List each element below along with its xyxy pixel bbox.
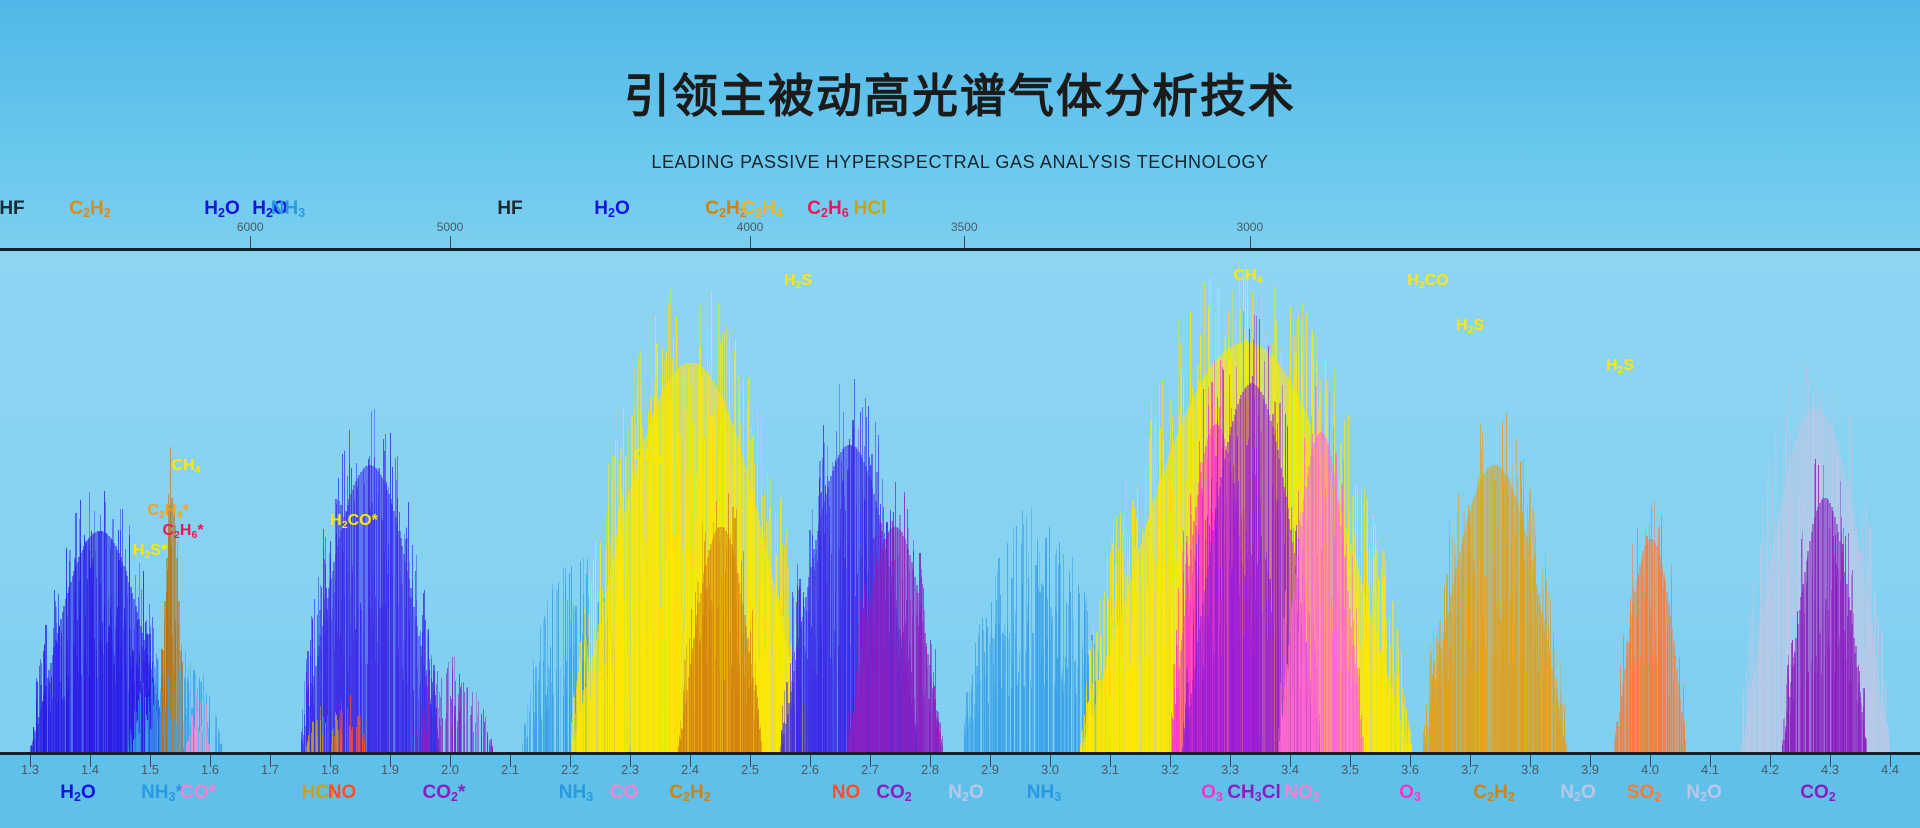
inline-gas-label-H2Sstar: H2S*	[133, 542, 167, 560]
bottom-tick-label: 2.0	[441, 762, 459, 777]
bottom-tick-label: 2.4	[681, 762, 699, 777]
inline-gas-label-C2H6star: C2H6*	[162, 522, 203, 540]
inline-gas-label-H2CO: H2CO	[1407, 272, 1448, 290]
bottom-tick-label: 3.5	[1341, 762, 1359, 777]
gas-label-CO2: CO2	[1800, 782, 1835, 804]
gas-label-CO2star: CO2*	[423, 782, 466, 804]
bottom-tick-label: 2.2	[561, 762, 579, 777]
gas-label-NO2: NO2	[1284, 782, 1319, 804]
bottom-tick-label: 4.2	[1761, 762, 1779, 777]
inline-gas-label-CH4: CH4	[1234, 267, 1263, 285]
bottom-tick-label: 1.3	[21, 762, 39, 777]
top-tick	[450, 236, 451, 248]
gas-label-SO2: SO2	[1627, 782, 1661, 804]
top-axis-line	[0, 248, 1920, 251]
top-tick-label: 4000	[737, 220, 764, 234]
bottom-tick-label: 2.3	[621, 762, 639, 777]
gas-label-C2H2: C2H2	[1473, 782, 1514, 804]
page-subtitle: LEADING PASSIVE HYPERSPECTRAL GAS ANALYS…	[0, 152, 1920, 173]
gas-label-N2O: N2O	[948, 782, 984, 804]
inline-gas-label-H2S: H2S	[1606, 357, 1634, 375]
gas-label-H2O: H2O	[594, 198, 630, 220]
inline-gas-label-H2S: H2S	[1456, 317, 1484, 335]
top-tick-label: 5000	[437, 220, 464, 234]
bottom-tick-label: 1.4	[81, 762, 99, 777]
bottom-tick-label: 4.4	[1881, 762, 1899, 777]
bottom-tick-label: 4.3	[1821, 762, 1839, 777]
bottom-tick-label: 2.1	[501, 762, 519, 777]
top-tick	[250, 236, 251, 248]
gas-label-O3: O3	[1201, 782, 1223, 804]
inline-gas-label-CH4: CH4	[172, 457, 201, 475]
page-title: 引领主被动高光谱气体分析技术	[0, 60, 1920, 126]
gas-label-C2H4: C2H4	[741, 198, 782, 220]
gas-label-N2O: N2O	[1560, 782, 1596, 804]
gas-label-NH3: NH3	[271, 198, 305, 220]
top-tick-label: 3500	[951, 220, 978, 234]
gas-label-C2H6: C2H6	[807, 198, 848, 220]
bottom-tick-label: 1.5	[141, 762, 159, 777]
inline-gas-label-CH4: CH4	[634, 447, 663, 465]
bottom-tick-label: 1.6	[201, 762, 219, 777]
gas-label-HF: HF	[497, 198, 522, 220]
bottom-tick-label: 4.0	[1641, 762, 1659, 777]
bottom-tick-label: 2.9	[981, 762, 999, 777]
bottom-tick-label: 1.7	[261, 762, 279, 777]
gas-label-HCl: HCl	[854, 198, 887, 220]
top-tick-label: 3000	[1236, 220, 1263, 234]
bottom-tick-label: 3.6	[1401, 762, 1419, 777]
gas-label-NO: NO	[328, 782, 357, 804]
bottom-tick-label: 2.8	[921, 762, 939, 777]
gas-label-HF: HF	[0, 198, 25, 220]
bottom-tick-label: 4.1	[1701, 762, 1719, 777]
gas-label-NH3: NH3	[559, 782, 593, 804]
gas-label-N2O: N2O	[1686, 782, 1722, 804]
top-tick	[964, 236, 965, 248]
gas-label-CO2: CO2	[876, 782, 911, 804]
gas-label-CO: CO	[610, 782, 639, 804]
top-tick	[1250, 236, 1251, 248]
bottom-tick-label: 3.1	[1101, 762, 1119, 777]
gas-label-C2H2: C2H2	[669, 782, 710, 804]
bottom-tick-label: 1.8	[321, 762, 339, 777]
bottom-tick-label: 2.6	[801, 762, 819, 777]
inline-gas-label-C2H4star: C2H4*	[147, 502, 188, 520]
gas-label-C2H2: C2H2	[69, 198, 110, 220]
gas-label-CH3Cl: CH3Cl	[1227, 782, 1280, 804]
bottom-tick-label: 1.9	[381, 762, 399, 777]
bottom-tick-label: 3.4	[1281, 762, 1299, 777]
top-tick	[750, 236, 751, 248]
gas-label-NH3: NH3	[1027, 782, 1061, 804]
bottom-tick-label: 3.2	[1161, 762, 1179, 777]
bottom-tick-label: 2.7	[861, 762, 879, 777]
gas-label-COstar: CO*	[180, 782, 216, 804]
bottom-tick-label: 3.0	[1041, 762, 1059, 777]
bottom-tick-label: 2.5	[741, 762, 759, 777]
gas-label-NH3star: NH3*	[141, 782, 183, 804]
top-tick-label: 6000	[237, 220, 264, 234]
gas-label-NO: NO	[832, 782, 861, 804]
bottom-tick-label: 3.9	[1581, 762, 1599, 777]
spectra-traces	[0, 252, 1920, 752]
bottom-tick-label: 3.3	[1221, 762, 1239, 777]
gas-label-H2O: H2O	[204, 198, 240, 220]
inline-gas-label-H2COstar: H2CO*	[330, 512, 378, 530]
gas-label-O3: O3	[1399, 782, 1421, 804]
bottom-tick-label: 3.8	[1521, 762, 1539, 777]
spectrum-plot: CH4C2H4*C2H6*H2S*H2CO*CH4H2SCH4H2COH2SH2…	[0, 252, 1920, 752]
gas-label-H2O: H2O	[60, 782, 96, 804]
inline-gas-label-H2S: H2S	[784, 272, 812, 290]
slide-root: 引领主被动高光谱气体分析技术 LEADING PASSIVE HYPERSPEC…	[0, 0, 1920, 828]
bottom-tick-label: 3.7	[1461, 762, 1479, 777]
